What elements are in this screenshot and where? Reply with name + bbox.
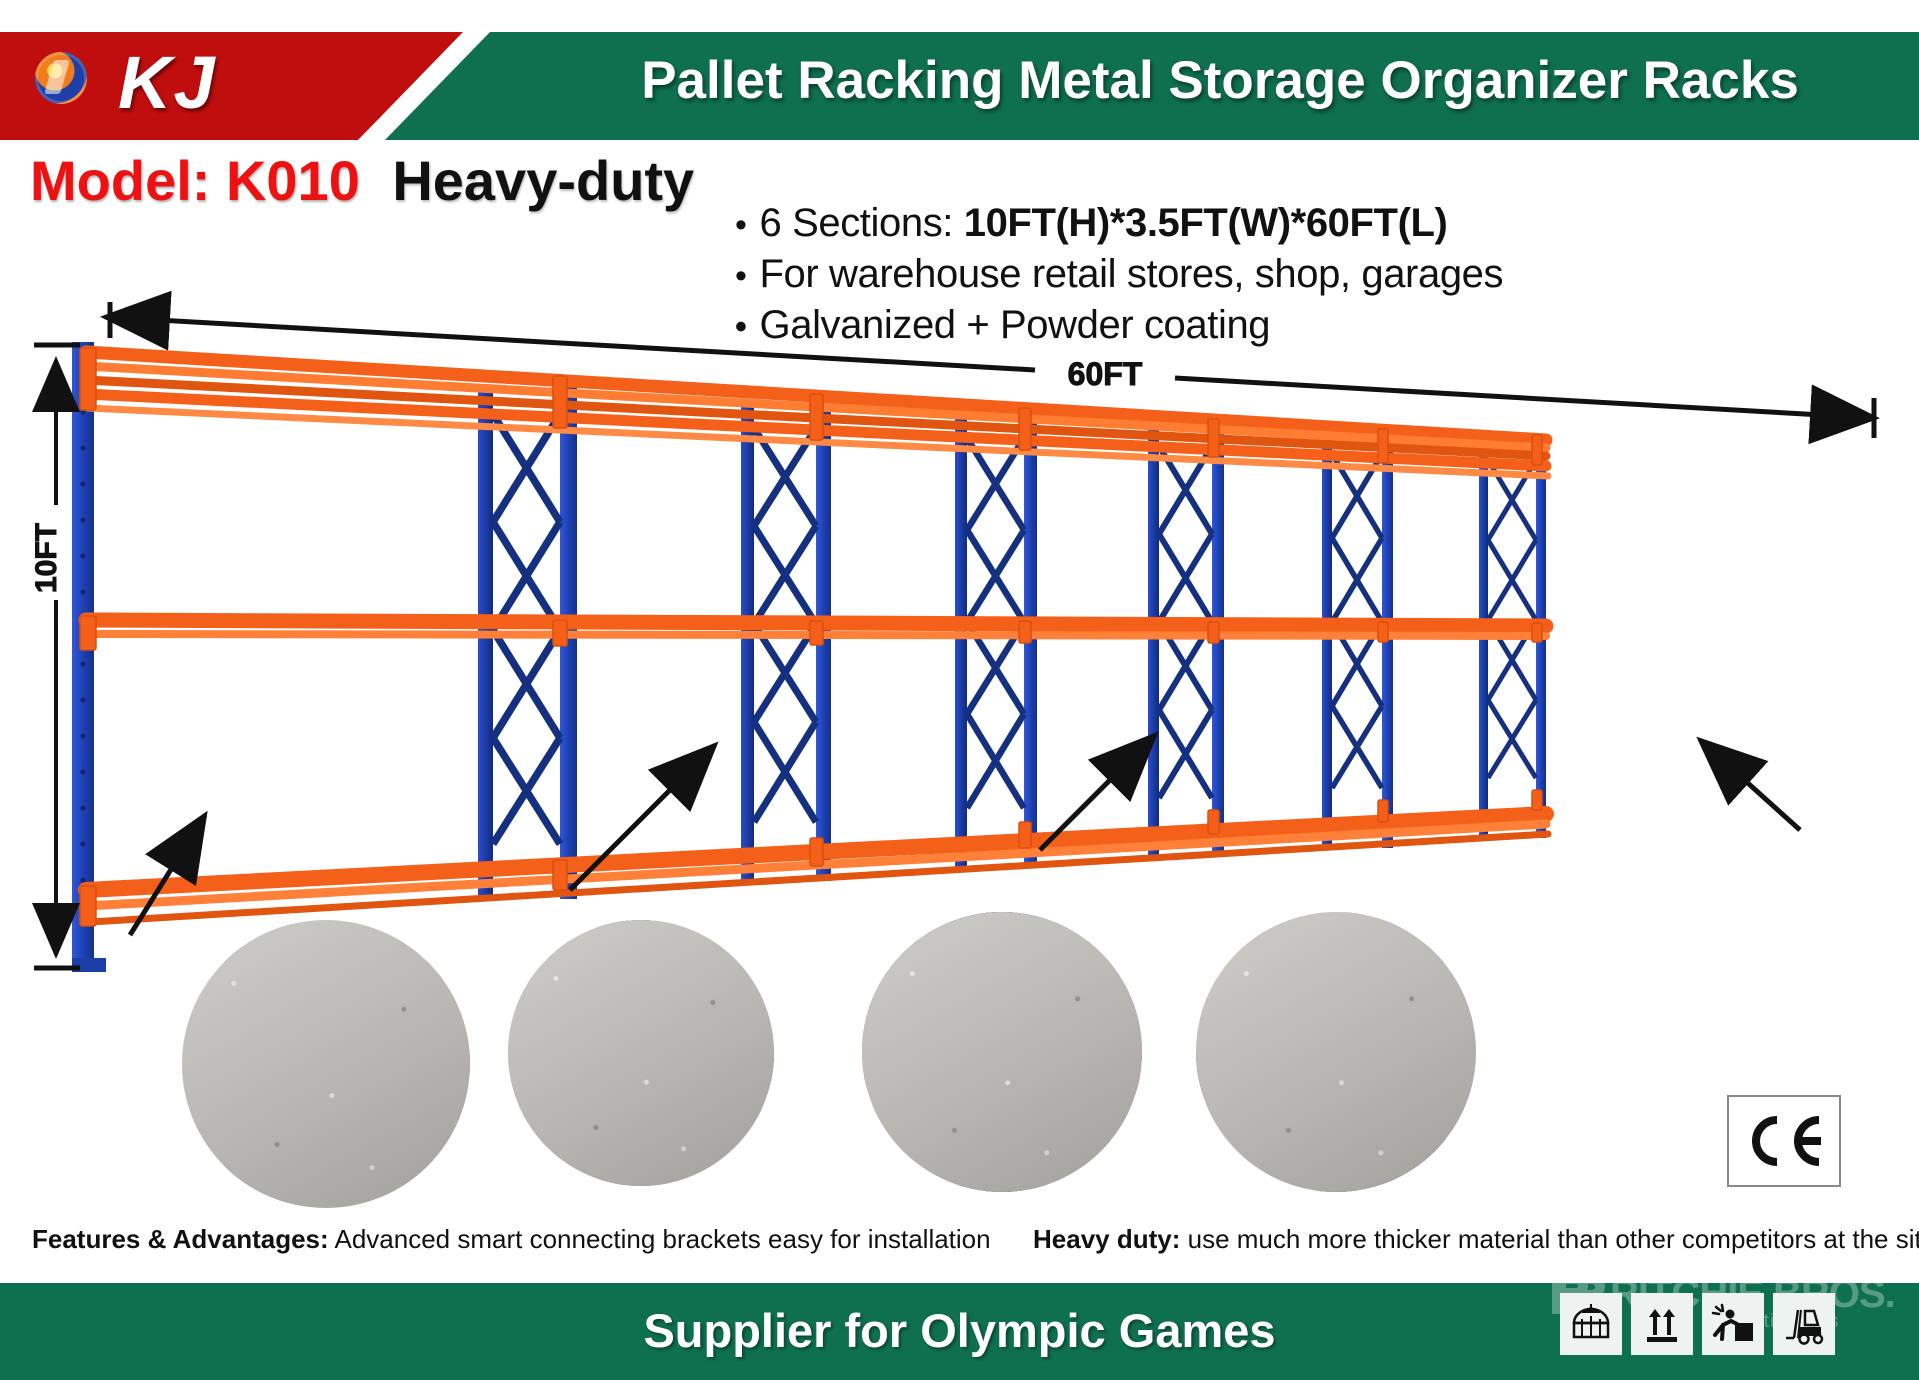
do-not-manhandle-icon	[1702, 1293, 1764, 1355]
inset-footplate-closeup	[508, 920, 774, 1186]
inset-double-bracket-closeup	[862, 912, 1142, 1192]
inset-photo-2	[508, 920, 774, 1186]
length-dimension-label: 60FT	[1068, 356, 1143, 392]
caption-features-label: Features & Advantages:	[32, 1224, 329, 1254]
bullet-lead-text: 6 Sections:	[760, 201, 964, 245]
bullet-strong-text: 10FT(H)*3.5FT(W)*60FT(L)	[964, 201, 1448, 245]
caption-heavy-duty: Heavy duty: use much more thicker materi…	[1033, 1224, 1919, 1255]
inset-beam-bracket-closeup	[182, 920, 470, 1208]
caption-heavy-duty-text: use much more thicker material than othe…	[1180, 1224, 1919, 1254]
concrete-floor-texture	[1196, 912, 1476, 1192]
kj-circular-emblem-icon	[35, 52, 87, 104]
caption-features-text: Advanced smart connecting brackets easy …	[329, 1224, 991, 1254]
duty-rating-label: Heavy-duty	[392, 149, 694, 212]
bullet-item-sections: • 6 Sections: 10FT(H)*3.5FT(W)*60FT(L)	[735, 200, 1905, 247]
page-title: Pallet Racking Metal Storage Organizer R…	[530, 54, 1910, 107]
concrete-floor-texture	[508, 920, 774, 1186]
caption-heavy-duty-label: Heavy duty:	[1033, 1224, 1180, 1254]
bullet-dot-icon: •	[735, 259, 747, 293]
shipping-icon-row	[1560, 1293, 1835, 1355]
bullet-dot-icon: •	[735, 208, 747, 242]
crane-sling-icon	[1560, 1293, 1622, 1355]
warehouse-background-texture	[862, 912, 1142, 1192]
model-number-label: Model: K010	[30, 149, 360, 212]
caption-features: Features & Advantages: Advanced smart co…	[32, 1224, 991, 1255]
inset-photo-3	[862, 912, 1142, 1192]
brand-logo-text: KJ	[118, 46, 217, 120]
inset-photo-1	[182, 920, 470, 1208]
height-dimension-label: 10FT	[30, 523, 63, 593]
inset-upright-brace-closeup	[1196, 912, 1476, 1192]
inset-photo-4	[1196, 912, 1476, 1192]
this-side-up-icon	[1631, 1293, 1693, 1355]
forklift-icon	[1773, 1293, 1835, 1355]
header-banner: KJ Pallet Racking Metal Storage Organize…	[0, 32, 1919, 140]
model-row: Model: K010 Heavy-duty	[30, 148, 694, 213]
concrete-floor-texture	[182, 920, 470, 1208]
ce-conformity-icon	[1727, 1095, 1841, 1187]
